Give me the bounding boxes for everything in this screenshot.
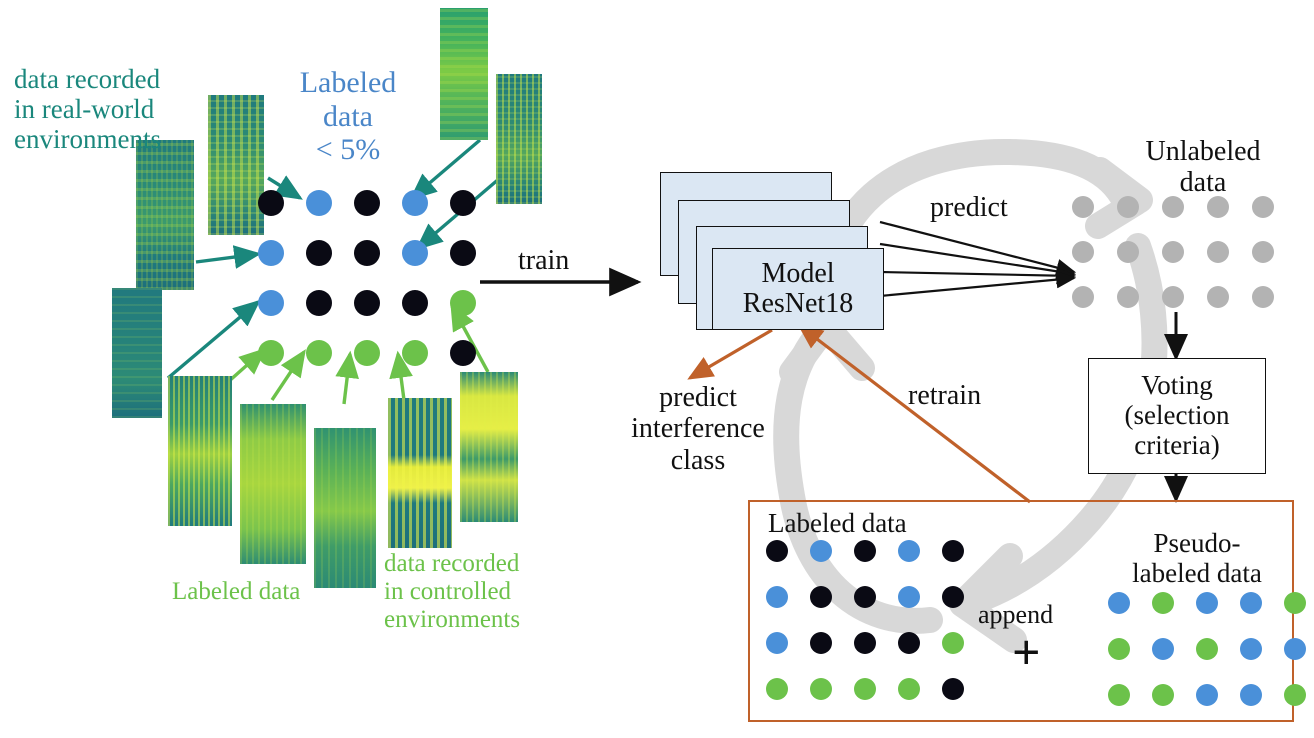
pseudo-dot bbox=[1240, 638, 1262, 660]
voting-box-label: Voting (selection criteria) bbox=[1125, 371, 1230, 460]
labeled-dot bbox=[898, 632, 920, 654]
pseudo-dot bbox=[1240, 684, 1262, 706]
labeled-dot bbox=[942, 540, 964, 562]
training-dot bbox=[258, 240, 284, 266]
unlabeled-dot bbox=[1207, 196, 1229, 218]
labeled-dot bbox=[810, 586, 832, 608]
label-predict: predict bbox=[930, 192, 1008, 223]
labeled-dot bbox=[898, 678, 920, 700]
unlabeled-dot bbox=[1162, 286, 1184, 308]
pseudo-dot bbox=[1152, 592, 1174, 614]
training-dot bbox=[402, 240, 428, 266]
spec-top-1 bbox=[136, 140, 194, 290]
pseudo-dot bbox=[1240, 592, 1262, 614]
unlabeled-dot bbox=[1207, 286, 1229, 308]
training-dot bbox=[450, 240, 476, 266]
unlabeled-dot bbox=[1252, 241, 1274, 263]
training-dot bbox=[450, 340, 476, 366]
labeled-dot bbox=[810, 540, 832, 562]
unlabeled-dot bbox=[1117, 286, 1139, 308]
training-dot bbox=[258, 290, 284, 316]
training-dot bbox=[306, 190, 332, 216]
model-box-front-line1: Model bbox=[761, 259, 834, 289]
training-dot bbox=[258, 340, 284, 366]
unlabeled-dot bbox=[1207, 241, 1229, 263]
pseudo-dot bbox=[1196, 684, 1218, 706]
training-dot bbox=[354, 240, 380, 266]
pseudo-dot bbox=[1196, 592, 1218, 614]
unlabeled-dot bbox=[1117, 241, 1139, 263]
unlabeled-dot bbox=[1162, 196, 1184, 218]
pseudo-dot bbox=[1108, 638, 1130, 660]
labeled-dot bbox=[810, 632, 832, 654]
diagram-canvas: data recorded in real-world environments… bbox=[0, 0, 1314, 738]
label-controlled: data recorded in controlled environments bbox=[384, 550, 520, 634]
labeled-dot bbox=[854, 632, 876, 654]
training-dot bbox=[306, 240, 332, 266]
spec-bot-3 bbox=[314, 428, 376, 588]
unlabeled-dot bbox=[1072, 196, 1094, 218]
spec-top-4 bbox=[496, 74, 542, 204]
spec-top-2 bbox=[208, 95, 264, 235]
label-unlabeled-data: Unlabeled data bbox=[1128, 136, 1278, 199]
labeled-dot bbox=[942, 586, 964, 608]
labeled-dot bbox=[810, 678, 832, 700]
pseudo-dot bbox=[1152, 684, 1174, 706]
model-box-front[interactable]: Model ResNet18 bbox=[712, 248, 884, 330]
pseudo-dot bbox=[1108, 592, 1130, 614]
labeled-dot bbox=[766, 678, 788, 700]
unlabeled-dot bbox=[1117, 196, 1139, 218]
training-dot bbox=[402, 190, 428, 216]
pseudo-dot bbox=[1152, 638, 1174, 660]
unlabeled-dot bbox=[1072, 241, 1094, 263]
label-labeled-data-green: Labeled data bbox=[172, 578, 300, 606]
training-dot bbox=[354, 190, 380, 216]
spec-bot-5 bbox=[460, 372, 518, 522]
labeled-dot bbox=[766, 632, 788, 654]
training-dot bbox=[306, 290, 332, 316]
labeled-dot bbox=[942, 632, 964, 654]
label-real-world: data recorded in real-world environments bbox=[14, 64, 161, 155]
labeled-dot bbox=[898, 586, 920, 608]
spec-top-5 bbox=[112, 288, 162, 418]
training-dot bbox=[402, 290, 428, 316]
labeled-dot bbox=[766, 540, 788, 562]
training-dot bbox=[450, 290, 476, 316]
label-train: train bbox=[518, 245, 569, 276]
pseudo-dot bbox=[1196, 638, 1218, 660]
labeled-dot bbox=[854, 540, 876, 562]
labeled-dot bbox=[898, 540, 920, 562]
labeled-dot bbox=[854, 586, 876, 608]
pseudo-dot bbox=[1284, 592, 1306, 614]
unlabeled-dot bbox=[1072, 286, 1094, 308]
training-dot bbox=[258, 190, 284, 216]
labeled-dot bbox=[766, 586, 788, 608]
label-retrain: retrain bbox=[908, 380, 981, 411]
spec-bot-1 bbox=[168, 376, 232, 526]
unlabeled-dot bbox=[1162, 241, 1184, 263]
training-dot bbox=[450, 190, 476, 216]
unlabeled-dot bbox=[1252, 286, 1274, 308]
training-dot bbox=[402, 340, 428, 366]
label-labeled-data-pct: Labeled data < 5% bbox=[283, 66, 413, 167]
pseudo-dot bbox=[1284, 684, 1306, 706]
unlabeled-dot bbox=[1252, 196, 1274, 218]
training-dot bbox=[354, 290, 380, 316]
spec-bot-2 bbox=[240, 404, 306, 564]
pseudo-dot bbox=[1284, 638, 1306, 660]
voting-box[interactable]: Voting (selection criteria) bbox=[1088, 358, 1266, 474]
model-box-front-line2: ResNet18 bbox=[743, 289, 853, 319]
spec-top-3 bbox=[440, 8, 488, 140]
training-dot bbox=[354, 340, 380, 366]
spec-bot-4 bbox=[388, 398, 452, 548]
labeled-dot bbox=[854, 678, 876, 700]
labeled-dot bbox=[942, 678, 964, 700]
pseudo-dot bbox=[1108, 684, 1130, 706]
label-predict-interference-class: predict interference class bbox=[618, 382, 778, 476]
training-dot bbox=[306, 340, 332, 366]
